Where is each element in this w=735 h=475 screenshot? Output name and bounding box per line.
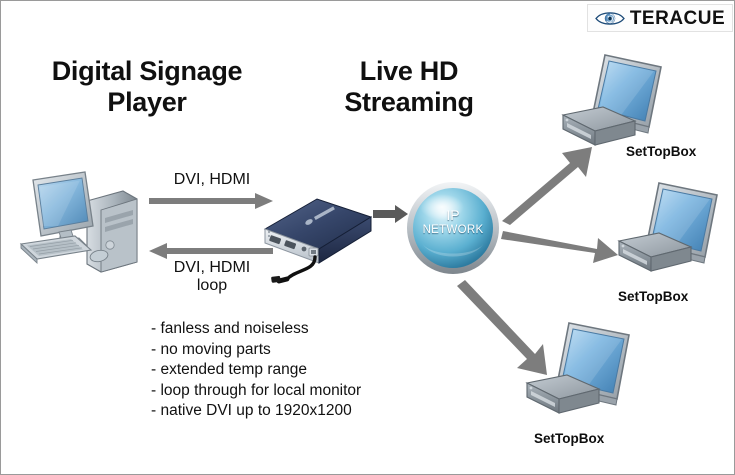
label-dvi-hdmi-loop: DVI, HDMI loop [151, 259, 273, 296]
feature-item: - no moving parts [151, 340, 461, 361]
heading-left-line1: Digital Signage [13, 56, 281, 87]
feature-item: - native DVI up to 1920x1200 [151, 401, 461, 422]
feature-item: - fanless and noiseless [151, 319, 461, 340]
teracue-encoder-icon [257, 191, 377, 286]
heading-right-line2: Streaming [309, 87, 509, 118]
loop-label-line2: loop [151, 277, 273, 295]
heading-digital-signage-player: Digital Signage Player [13, 56, 281, 118]
settopbox-label-1: SetTopBox [626, 144, 696, 159]
label-dvi-hdmi-forward: DVI, HDMI [151, 171, 273, 189]
feature-item: - extended temp range [151, 360, 461, 381]
settopbox-group-1 [549, 49, 729, 159]
heading-live-hd-streaming: Live HD Streaming [309, 56, 509, 118]
diagram-canvas: TERACUE Digital Signage Player Live HD S… [0, 0, 735, 475]
feature-list: - fanless and noiseless - no moving part… [151, 319, 461, 422]
arrow-encoder-to-network [373, 205, 409, 223]
desktop-computer-icon [13, 166, 148, 278]
feature-item: - loop through for local monitor [151, 381, 461, 402]
arrow-network-to-settopbox-2 [501, 223, 619, 267]
arrow-encoder-to-pc-loop [147, 241, 275, 261]
settopbox-label-3: SetTopBox [534, 431, 604, 446]
loop-label-line1: DVI, HDMI [151, 259, 273, 277]
settopbox-label-2: SetTopBox [618, 289, 688, 304]
eye-icon [595, 10, 625, 27]
settopbox-group-2 [609, 179, 735, 289]
arrow-pc-to-encoder [147, 191, 275, 211]
heading-right-line1: Live HD [309, 56, 509, 87]
settopbox-group-3 [509, 319, 649, 434]
logo-wordmark: TERACUE [630, 9, 725, 28]
teracue-logo: TERACUE [587, 4, 733, 32]
ip-network-sphere: IP NETWORK [406, 181, 500, 275]
heading-left-line2: Player [13, 87, 281, 118]
